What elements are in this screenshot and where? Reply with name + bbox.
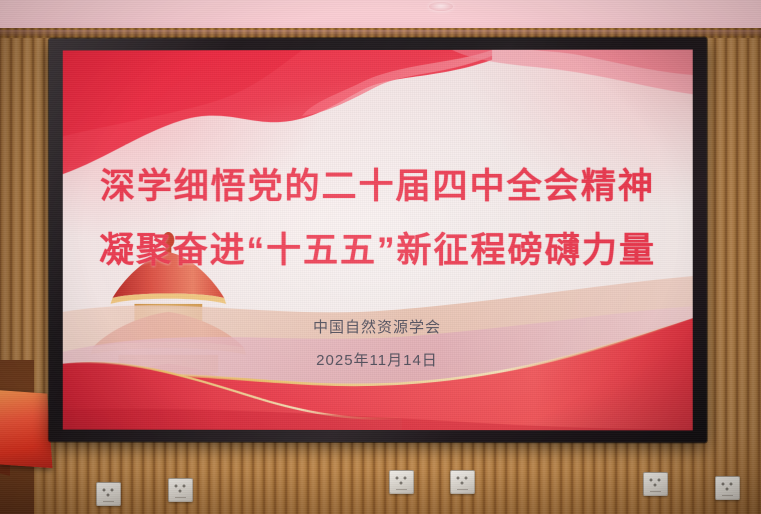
led-screen-bezel: 深学细悟党的二十届四中全会精神 凝聚奋进“十五五”新征程磅礴力量 中国自然资源学… xyxy=(49,38,707,443)
wall-outlet-5[interactable] xyxy=(643,472,668,496)
wall-outlet-4[interactable] xyxy=(450,470,475,494)
conference-room-scene: 深学细悟党的二十届四中全会精神 凝聚奋进“十五五”新征程磅礴力量 中国自然资源学… xyxy=(0,0,761,514)
outlet-label-line xyxy=(457,489,468,490)
outlet-label-line xyxy=(396,489,407,490)
wall-outlet-6[interactable] xyxy=(715,476,740,500)
outlet-label-line xyxy=(722,495,733,496)
outlet-socket-icon xyxy=(173,484,188,493)
wall-outlet-1[interactable] xyxy=(96,482,121,506)
outlet-label-line xyxy=(650,491,661,492)
wall-outlet-3[interactable] xyxy=(389,470,414,494)
outlet-socket-icon xyxy=(394,476,409,485)
slide-title-line-2: 凝聚奋进“十五五”新征程磅礴力量 xyxy=(63,230,693,272)
wall-outlet-2[interactable] xyxy=(168,478,193,502)
outlet-socket-icon xyxy=(101,488,116,497)
outlet-socket-icon xyxy=(455,476,470,485)
red-wall-panel xyxy=(0,390,53,468)
slide-title-line-1: 深学细悟党的二十届四中全会精神 xyxy=(63,166,693,208)
ceiling-downlight-icon xyxy=(429,2,453,11)
outlet-socket-icon xyxy=(648,478,663,487)
outlet-socket-icon xyxy=(720,482,735,491)
slide-organization: 中国自然资源学会 xyxy=(63,316,693,337)
outlet-label-line xyxy=(103,501,114,502)
slide-date: 2025年11月14日 xyxy=(63,349,693,371)
led-screen-panel[interactable]: 深学细悟党的二十届四中全会精神 凝聚奋进“十五五”新征程磅礴力量 中国自然资源学… xyxy=(63,50,693,431)
slide-text-block: 深学细悟党的二十届四中全会精神 凝聚奋进“十五五”新征程磅礴力量 中国自然资源学… xyxy=(63,50,693,431)
ceiling-wall-edge xyxy=(0,30,761,36)
outlet-label-line xyxy=(175,497,186,498)
